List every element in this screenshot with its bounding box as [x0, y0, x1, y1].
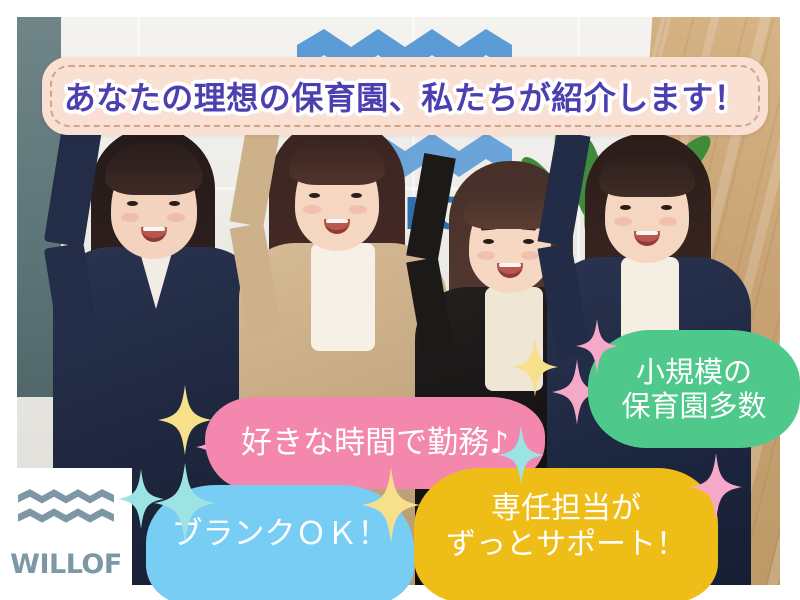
mouth	[634, 231, 660, 246]
mouth	[324, 219, 350, 234]
blush	[659, 217, 677, 226]
willof-wave-mark	[18, 489, 114, 543]
bangs	[599, 151, 695, 197]
willof-logo: WILLOF	[0, 468, 132, 600]
blush	[614, 217, 632, 226]
inner-shirt	[311, 243, 375, 351]
sparkle-icon-yellow	[362, 466, 420, 544]
eye	[309, 193, 320, 198]
bubble-yellow-line2: ずっとサポート！	[446, 527, 686, 562]
bangs	[105, 143, 203, 195]
willof-logo-text: WILLOF	[10, 549, 122, 580]
bubble-green: 小規模の 保育園多数	[588, 330, 800, 448]
sparkle-icon-cyan	[118, 468, 164, 530]
bubble-green-line2: 保育園多数	[621, 389, 766, 423]
sparkle-icon-cyan	[498, 424, 544, 486]
eye	[483, 239, 494, 244]
bubble-green-line1: 小規模の	[621, 355, 766, 389]
eye	[127, 201, 138, 206]
bubble-pink-text: 好きな時間で勤務♪	[241, 425, 509, 462]
blush	[303, 205, 321, 214]
sparkle-icon-pink	[576, 318, 618, 374]
bangs	[289, 137, 385, 185]
headline-banner: あなたの理想の保育園、私たちが紹介します！	[42, 57, 768, 135]
blush	[349, 205, 367, 214]
bubble-yellow-line1: 専任担当が	[446, 491, 686, 526]
blush	[477, 251, 495, 260]
mouth	[497, 263, 523, 278]
blush	[521, 251, 539, 260]
blush	[167, 213, 185, 222]
headline-text: あなたの理想の保育園、私たちが紹介します！	[42, 57, 768, 135]
mouth	[141, 227, 167, 242]
eye	[661, 205, 672, 210]
sparkle-icon-pink	[690, 452, 742, 522]
eye	[169, 201, 180, 206]
advertisement-banner: WILLOF	[0, 0, 800, 600]
eye	[351, 193, 362, 198]
blush	[121, 213, 139, 222]
eye	[523, 239, 534, 244]
bubble-yellow: 専任担当が ずっとサポート！	[414, 468, 718, 600]
eye	[620, 205, 631, 210]
